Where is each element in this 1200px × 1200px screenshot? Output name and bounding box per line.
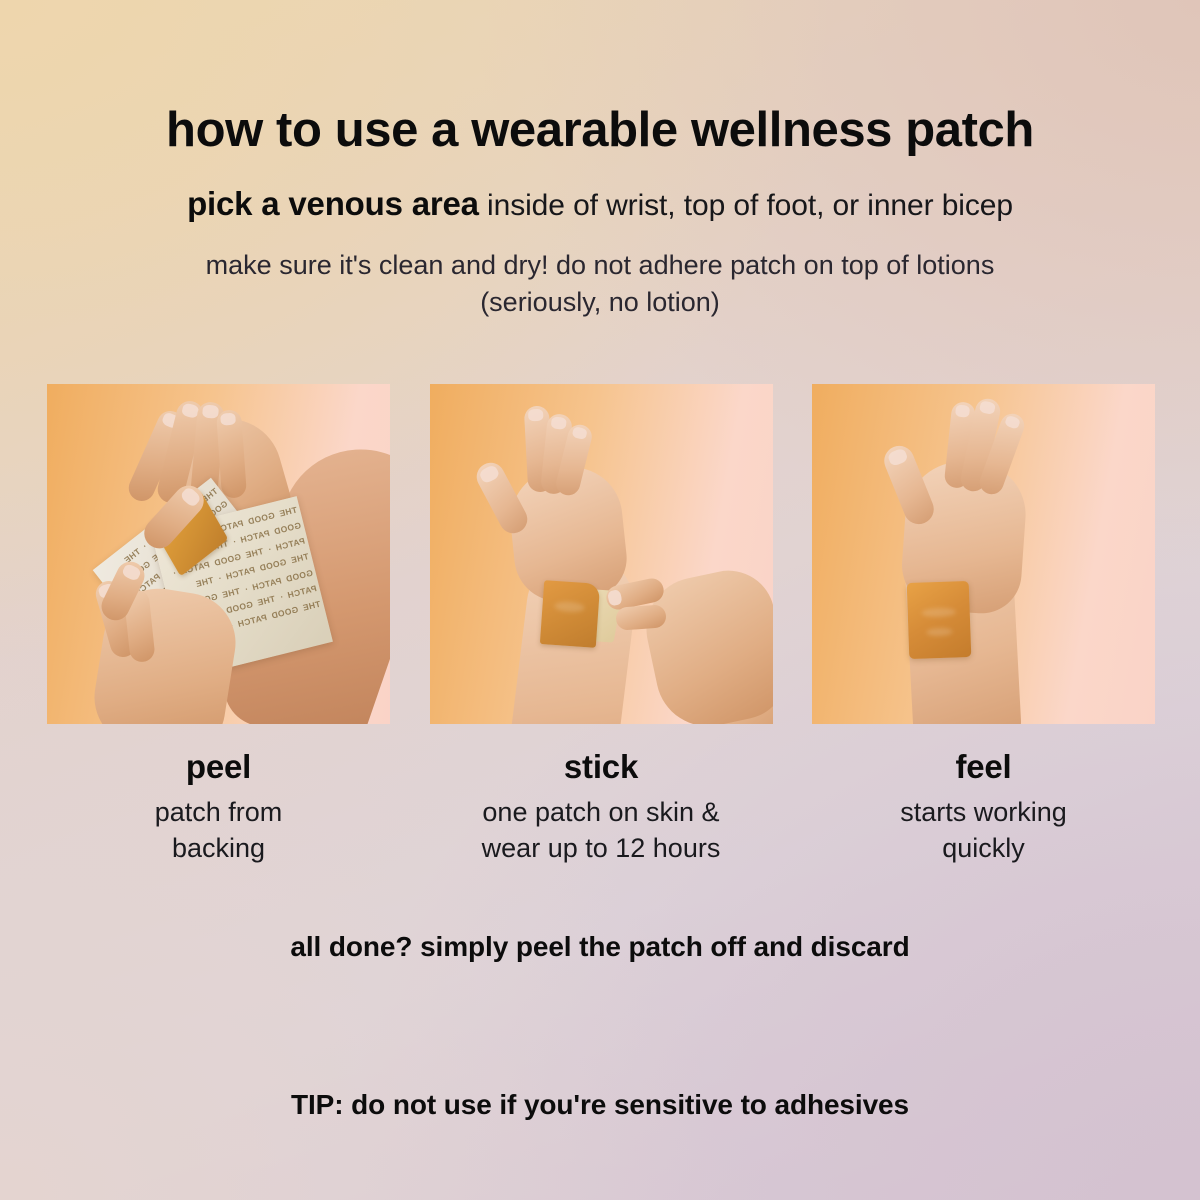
step-image-peel: THE GOOD PATCH · THE GOOD PATCH · THE GO…: [47, 384, 390, 724]
fingernail: [571, 426, 587, 440]
step-image-stick: [430, 384, 773, 724]
patch-crease: [922, 607, 956, 617]
patch-crease: [554, 601, 585, 613]
fingernail: [606, 589, 622, 606]
fingernail: [887, 447, 909, 467]
fingernail: [478, 464, 500, 485]
fingernail: [979, 400, 996, 415]
subheading-light: inside of wrist, top of foot, or inner b…: [479, 189, 1013, 222]
worn-patch: [907, 581, 972, 659]
subheading-strong: pick a venous area: [187, 185, 479, 222]
step-caption-row: peel patch from backing stick one patch …: [47, 748, 1155, 866]
note-line-1: make sure it's clean and dry! do not adh…: [0, 247, 1200, 284]
fingernail: [955, 404, 970, 417]
applied-patch: [539, 580, 599, 648]
fingernail: [1004, 415, 1021, 430]
step-word: feel: [812, 748, 1155, 786]
note-text: make sure it's clean and dry! do not adh…: [0, 247, 1200, 322]
fingernail: [527, 409, 543, 422]
fingernail: [179, 486, 202, 508]
page-title: how to use a wearable wellness patch: [0, 105, 1200, 157]
fingernail: [121, 563, 142, 582]
fingernail: [220, 413, 236, 426]
step-caption-peel: peel patch from backing: [47, 748, 390, 866]
patch-crease: [926, 628, 952, 637]
step-description: one patch on skin & wear up to 12 hours: [430, 795, 773, 866]
step-word: stick: [430, 748, 773, 786]
step-description: patch from backing: [47, 795, 390, 866]
step-caption-stick: stick one patch on skin & wear up to 12 …: [430, 748, 773, 866]
note-line-2: (seriously, no lotion): [0, 284, 1200, 321]
step-caption-feel: feel starts working quickly: [812, 748, 1155, 866]
step-word: peel: [47, 748, 390, 786]
all-done-text: all done? simply peel the patch off and …: [0, 931, 1200, 963]
page-content: how to use a wearable wellness patch pic…: [0, 0, 1200, 1200]
step-image-row: THE GOOD PATCH · THE GOOD PATCH · THE GO…: [47, 384, 1155, 724]
subheading: pick a venous area inside of wrist, top …: [0, 186, 1200, 222]
step-description: starts working quickly: [812, 795, 1155, 866]
step-image-feel: [812, 384, 1155, 724]
finger-shape: [615, 604, 666, 630]
tip-text: TIP: do not use if you're sensitive to a…: [0, 1089, 1200, 1121]
fingernail: [550, 416, 566, 430]
fingernail: [202, 404, 219, 418]
